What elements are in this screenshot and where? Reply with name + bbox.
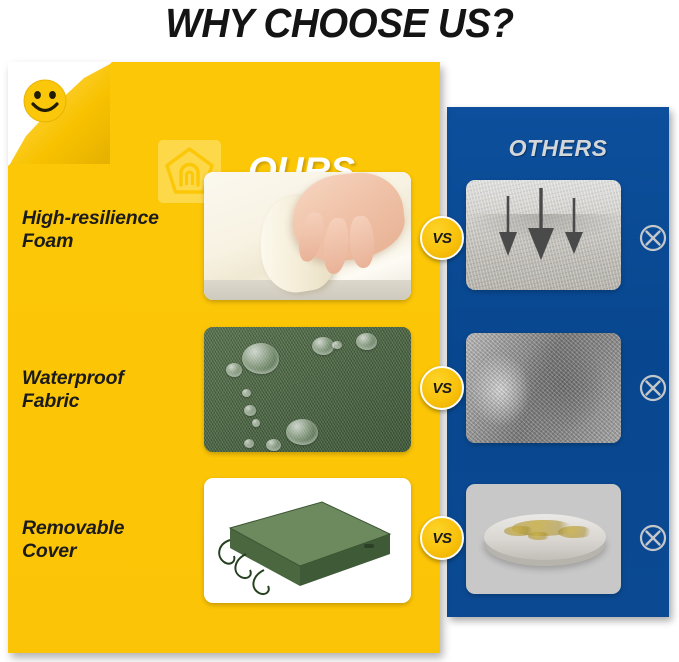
stain-spot [528,532,550,540]
water-drop [266,439,281,451]
ours-image-removable-cover [204,478,411,603]
down-arrows-icon [466,180,621,290]
feature-label-line2: Cover [22,540,76,562]
water-drop [356,333,377,350]
fabric-texture [466,333,621,443]
feature-label-line2: Foam [22,230,73,252]
circle-x-icon-row-1 [639,224,667,252]
feature-label-line1: Waterproof [22,367,124,389]
feature-label-line1: Removable [22,517,124,539]
circle-x-icon-row-3 [639,524,667,552]
water-drop [244,405,256,416]
stain-spot [558,526,592,538]
water-drop [242,343,279,374]
feature-label-waterproof-fabric: Waterproof Fabric [22,367,207,413]
ours-image-high-resilience-foam [204,172,411,300]
page-title: WHY CHOOSE US? [20,0,658,48]
feature-label-removable-cover: Removable Cover [22,517,207,563]
water-drop [226,363,242,377]
water-drop [312,337,334,355]
smiley-face-icon [22,78,68,124]
vs-badge-row-2: VS [420,366,464,410]
others-image-stained-cushion [466,484,621,594]
infographic-canvas: WHY CHOOSE US? OTHERS OURS High-resilien… [0,0,679,662]
others-image-wet-fabric [466,333,621,443]
water-drop [252,419,260,427]
vs-badge-row-1: VS [420,216,464,260]
others-image-sagging-foam [466,180,621,290]
ours-image-waterproof-fabric [204,327,411,452]
others-heading: OTHERS [447,135,669,162]
water-drop [332,341,342,349]
water-drop [242,389,251,397]
water-drop [244,439,254,448]
water-drop [286,419,318,445]
green-cushion-illustration [204,478,411,603]
circle-x-icon-row-2 [639,374,667,402]
vs-badge-row-3: VS [420,516,464,560]
feature-label-high-resilience-foam: High-resilience Foam [22,207,207,253]
feature-label-line1: High-resilience [22,207,159,229]
feature-label-line2: Fabric [22,390,79,412]
